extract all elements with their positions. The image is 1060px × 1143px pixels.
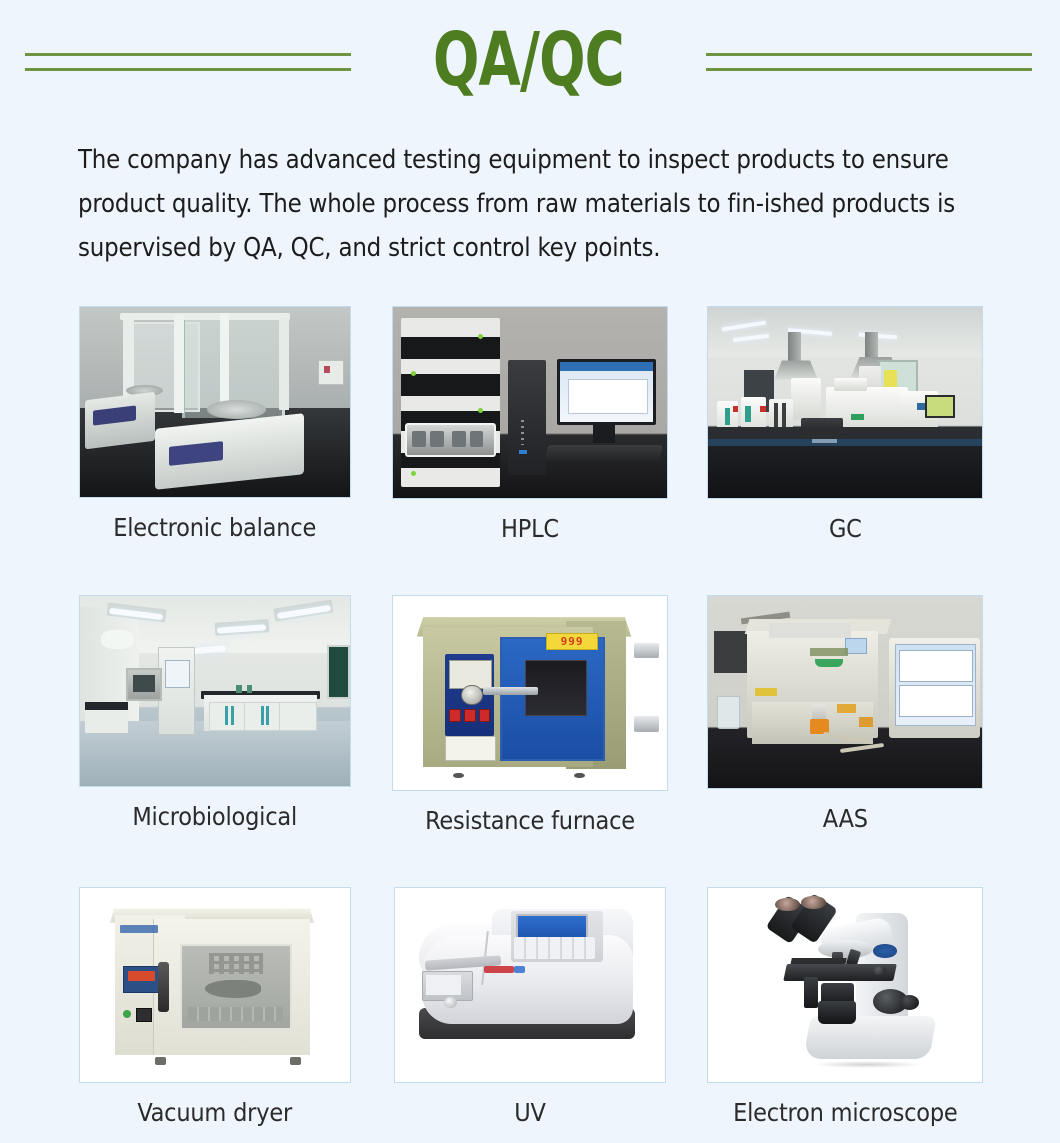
caption-electronic-balance: Electronic balance bbox=[113, 498, 316, 558]
scene-uv-spectrophotometer bbox=[395, 888, 665, 1082]
photo-electron-microscope bbox=[707, 887, 983, 1083]
caption-uv: UV bbox=[514, 1083, 545, 1143]
photo-microbiological bbox=[79, 595, 351, 787]
equipment-card-uv[interactable]: UV bbox=[377, 887, 682, 1143]
caption-microbiological: Microbiological bbox=[132, 787, 297, 847]
photo-gc bbox=[707, 306, 983, 499]
header-rule-left bbox=[25, 53, 351, 71]
rule-line bbox=[706, 68, 1032, 71]
intro-paragraph: The company has advanced testing equipme… bbox=[78, 138, 982, 270]
equipment-card-resistance-furnace[interactable]: 999 Resistance furnace bbox=[377, 595, 682, 851]
caption-resistance-furnace: Resistance furnace bbox=[425, 791, 635, 851]
equipment-card-aas[interactable]: AAS bbox=[693, 595, 998, 851]
page-title: QA/QC bbox=[433, 23, 624, 97]
photo-electronic-balance bbox=[79, 306, 351, 498]
photo-hplc bbox=[392, 306, 668, 499]
scene-electron-microscope bbox=[708, 888, 982, 1082]
furnace-display: 999 bbox=[546, 633, 597, 651]
scene-atomic-absorption-spectrometer bbox=[708, 596, 982, 788]
caption-hplc: HPLC bbox=[501, 499, 559, 559]
equipment-card-vacuum-dryer[interactable]: Vacuum dryer bbox=[62, 887, 367, 1143]
scene-vacuum-dryer bbox=[80, 888, 350, 1082]
scene-hplc bbox=[393, 307, 667, 498]
equipment-grid-row-1: Electronic balance bbox=[0, 306, 1060, 559]
equipment-grid-row-2: Microbiological 999 Re bbox=[0, 595, 1060, 851]
caption-electron-microscope: Electron microscope bbox=[733, 1083, 957, 1143]
photo-vacuum-dryer bbox=[79, 887, 351, 1083]
rule-line bbox=[25, 53, 351, 56]
equipment-card-electron-microscope[interactable]: Electron microscope bbox=[693, 887, 998, 1143]
equipment-card-gc[interactable]: GC bbox=[693, 306, 998, 559]
rule-line bbox=[25, 68, 351, 71]
photo-aas bbox=[707, 595, 983, 789]
caption-gc: GC bbox=[829, 499, 862, 559]
page-header: QA/QC bbox=[0, 0, 1060, 120]
scene-gas-chromatograph bbox=[708, 307, 982, 498]
scene-resistance-furnace: 999 bbox=[393, 596, 667, 790]
equipment-card-hplc[interactable]: HPLC bbox=[377, 306, 682, 559]
caption-vacuum-dryer: Vacuum dryer bbox=[137, 1083, 292, 1143]
photo-resistance-furnace: 999 bbox=[392, 595, 668, 791]
photo-uv bbox=[394, 887, 666, 1083]
page-title-wrap: QA/QC bbox=[351, 23, 706, 97]
caption-aas: AAS bbox=[823, 789, 868, 849]
scene-microbiological-cleanroom bbox=[80, 596, 350, 786]
header-rule-right bbox=[706, 53, 1032, 71]
equipment-card-electronic-balance[interactable]: Electronic balance bbox=[62, 306, 367, 559]
equipment-grid-row-3: Vacuum dryer UV bbox=[0, 887, 1060, 1143]
rule-line bbox=[706, 53, 1032, 56]
scene-electronic-balance bbox=[80, 307, 350, 497]
equipment-card-microbiological[interactable]: Microbiological bbox=[62, 595, 367, 851]
